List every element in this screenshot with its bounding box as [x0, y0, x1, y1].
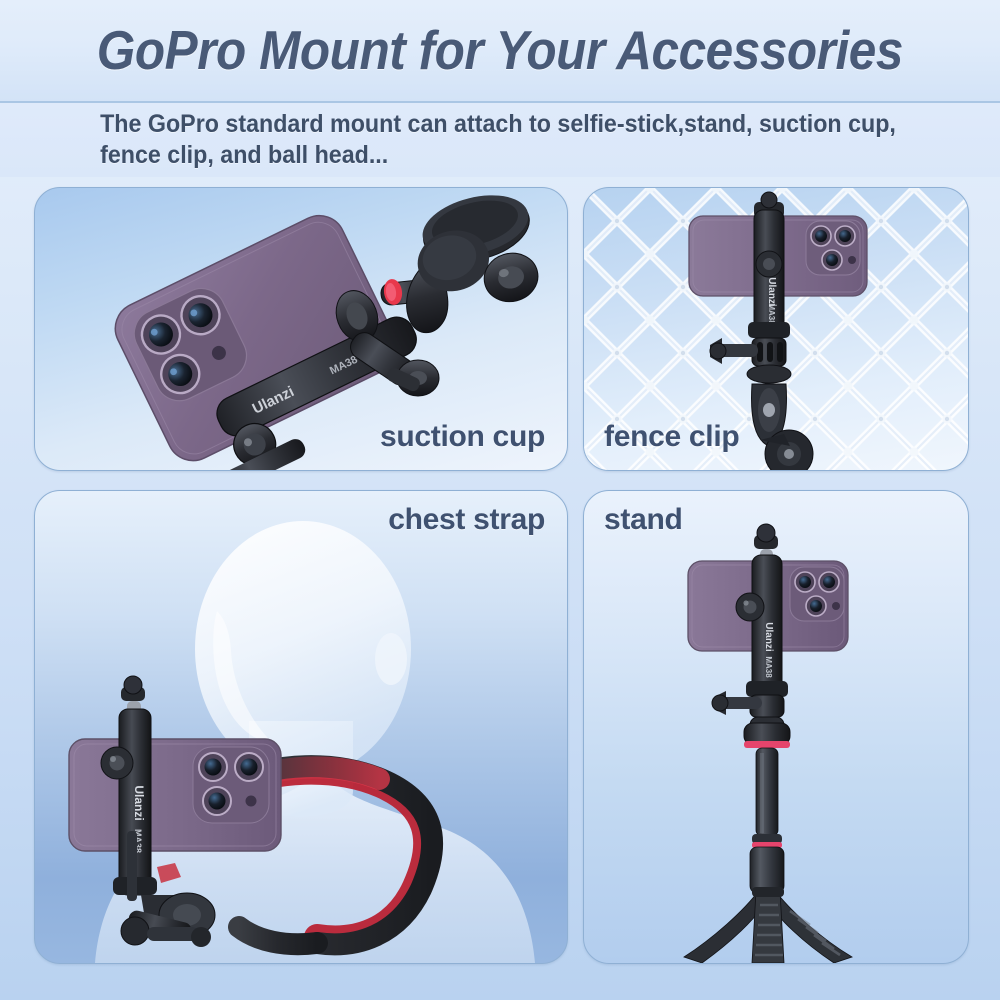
- panel-label-fence-clip: fence clip: [604, 420, 739, 454]
- panel-label-stand: stand: [604, 503, 683, 537]
- chest-strap-scene: Ulanzi MA38: [35, 491, 567, 963]
- panel-fence-clip: Ulanzi MA38 fence clip: [583, 187, 969, 471]
- panel-label-suction-cup: suction cup: [380, 420, 545, 454]
- panel-suction-cup: Ulanzi MA38: [34, 187, 568, 471]
- svg-text:MA38: MA38: [764, 656, 773, 678]
- page-title: GoPro Mount for Your Accessories: [97, 23, 903, 78]
- svg-text:Ulanzi: Ulanzi: [763, 622, 774, 652]
- svg-text:Ulanzi: Ulanzi: [132, 785, 146, 820]
- page-subtitle: The GoPro standard mount can attach to s…: [100, 109, 900, 170]
- panel-stand: Ulanzi MA38: [583, 490, 969, 964]
- panel-label-chest-strap: chest strap: [388, 503, 545, 537]
- stand-scene: Ulanzi MA38: [584, 491, 968, 963]
- subtitle-band: The GoPro standard mount can attach to s…: [0, 103, 1000, 177]
- header-band: GoPro Mount for Your Accessories: [0, 0, 1000, 103]
- panel-chest-strap: Ulanzi MA38 chest strap: [34, 490, 568, 964]
- svg-text:MA38: MA38: [767, 303, 776, 325]
